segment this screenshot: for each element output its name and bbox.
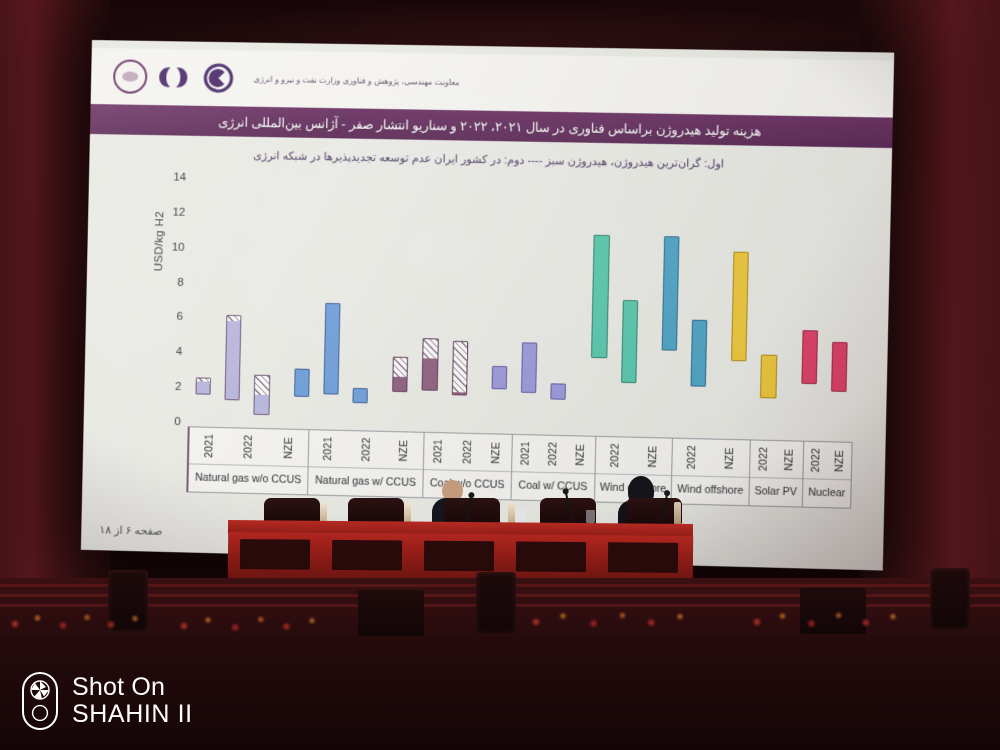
bar-solid-segment [226,321,241,400]
x-scenario-row: 20212022NZE [512,435,595,473]
table-panel-1 [240,539,310,570]
bar-natural-gas-w-ccus-nze [352,388,368,404]
y-tick-8: 8 [158,276,184,289]
stage-light-right [930,568,970,630]
table-panel-4 [516,541,586,572]
water-bottle-4 [674,502,681,524]
camera-lens-icon [31,704,49,722]
x-scenario-label: 2021 [309,430,348,467]
flower-arrangement-2 [168,608,328,638]
stage-monitor-left [358,590,424,636]
logo-group [113,59,238,95]
flower-arrangement-1 [0,606,150,636]
flower-arrangement-3 [518,604,698,634]
drinking-glass-2 [586,510,595,524]
bar-solid-segment [452,392,465,394]
y-tick-12: 12 [159,206,185,219]
y-tick-0: 0 [155,415,181,428]
camera-aperture-icon [30,680,50,700]
institute-ring-logo-icon [113,59,148,94]
bar-coal-w-o-ccus-2022 [422,338,439,391]
y-tick-14: 14 [160,171,186,183]
bar-nuclear-nze [831,342,848,392]
x-scenario-label: 2022 [347,431,386,468]
bar-coal-w-ccus-nze [551,383,567,399]
bar-nuclear-2022 [801,331,818,384]
bar-solid-segment [552,384,566,398]
bar-wind-offshore-2022 [661,236,679,351]
bar-wind-offshore-nze [691,319,708,386]
bar-coal-w-ccus-2022 [521,342,538,393]
y-tick-4: 4 [156,346,182,359]
bar-natural-gas-w-o-ccus-2022 [225,315,242,401]
chair-3 [444,498,500,524]
camera-watermark: Shot On SHAHIN II [22,672,193,730]
x-scenario-label: 2022 [540,436,568,473]
x-scenario-label: NZE [268,429,309,466]
bar-wind-onshore-2022 [591,235,609,359]
bar-solar-pv-nze [760,354,777,398]
table-panel-3 [424,541,494,572]
x-scenario-label: 2022 [229,428,269,465]
y-tick-10: 10 [158,241,184,254]
watermark-badge [22,672,58,730]
bar-hatch-segment [452,342,467,395]
x-scenario-row: 20212022NZE [309,430,424,469]
table-panel-2 [332,540,402,571]
slide-org-text: معاونت مهندسی، پژوهش و فناوری وزارت نفت … [254,74,460,86]
watermark-line-1: Shot On [72,674,193,702]
c-circle-logo-icon [201,62,238,95]
stage-light-center [476,572,516,634]
bar-solid-segment [255,395,269,415]
bar-natural-gas-w-o-ccus-nze [254,375,270,416]
bar-wind-onshore-nze [621,300,638,383]
chart-plot-area: 02468101214 [188,178,858,438]
bar-solid-segment [197,381,210,394]
bar-solid-segment [393,377,407,391]
watermark-text: Shot On SHAHIN II [72,674,193,729]
bar-natural-gas-w-ccus-2022 [323,303,340,394]
cc-monogram-logo-icon [156,61,193,94]
water-bottle-3 [508,502,515,524]
bar-coal-w-o-ccus-nze [451,341,468,396]
bar-coal-w-ccus-2021 [491,366,507,389]
watermark-line-2: SHAHIN II [72,701,193,729]
bar-solid-segment [423,358,437,390]
bar-solar-pv-2022 [731,251,749,361]
y-tick-6: 6 [157,311,183,324]
x-scenario-label: 2022 [453,434,483,471]
x-scenario-label: 2021 [512,435,540,472]
chart-bars [188,178,858,438]
panel-table-front [228,532,693,582]
x-scenario-label: NZE [482,434,512,471]
x-scenario-label: 2022 [595,437,634,474]
x-scenario-label: 2021 [424,433,454,470]
table-panel-5 [608,542,678,573]
slide-title: هزینه تولید هیدروژن براساس فناوری در سال… [218,114,761,139]
x-scenario-row: 20212022NZE [424,433,512,471]
x-scenario-row: 20212022NZE [189,427,309,466]
bar-natural-gas-w-o-ccus-2021 [195,377,211,395]
x-scenario-label: 2021 [189,427,229,464]
bar-coal-w-o-ccus-2021 [392,357,408,392]
bar-natural-gas-w-ccus-2021 [294,369,310,397]
y-tick-2: 2 [155,381,181,394]
flower-arrangement-4 [740,604,910,634]
x-scenario-label: NZE [567,436,595,473]
x-scenario-label: NZE [385,432,424,469]
